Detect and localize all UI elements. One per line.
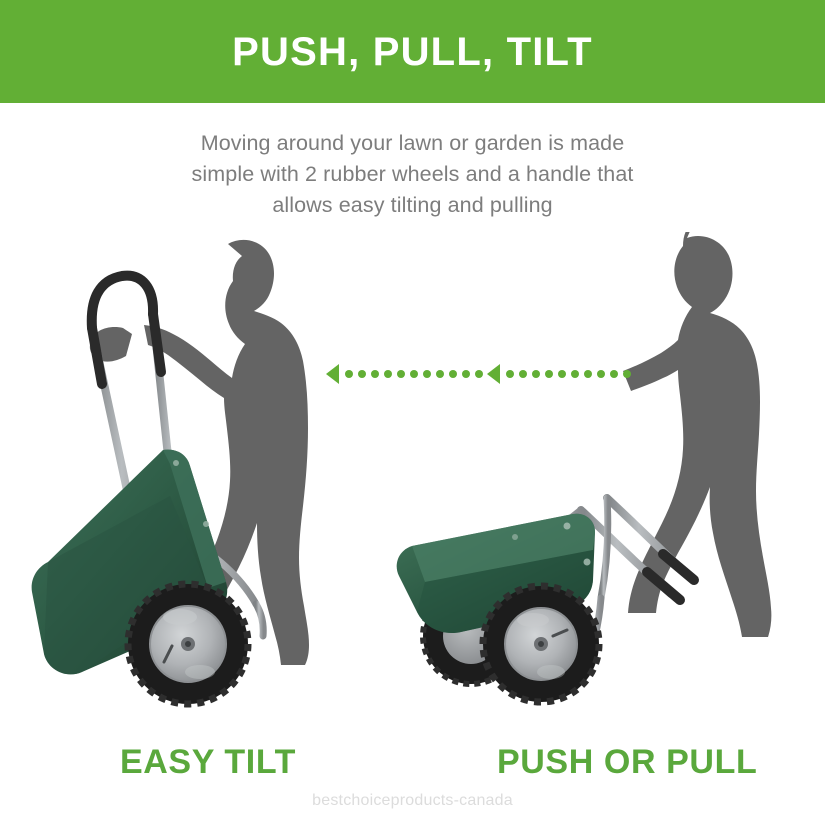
watermark: bestchoiceproducts-canada [0,792,825,810]
illustration-stage [0,232,825,724]
dotted-left-arrow-icon-2 [487,364,631,384]
cart-wheel-front [483,586,599,702]
dotted-left-arrow-icon-1 [326,364,483,384]
header-banner: PUSH, PULL, TILT [0,0,825,103]
subtitle-line-1: Moving around your lawn or garden is mad… [113,128,713,159]
easy-tilt-illustration [30,232,375,724]
page-title: PUSH, PULL, TILT [222,32,603,72]
subtitle-block: Moving around your lawn or garden is mad… [113,128,713,221]
caption-easy-tilt: EASY TILT [120,740,296,784]
direction-arrows [325,362,635,386]
subtitle-line-2: simple with 2 rubber wheels and a handle… [113,159,713,190]
infographic-page: PUSH, PULL, TILT Moving around your lawn… [0,0,825,825]
captions-row: EASY TILT PUSH OR PULL [0,740,825,790]
cart-wheel [128,584,248,704]
push-or-pull-illustration [395,232,795,724]
subtitle-line-3: allows easy tilting and pulling [113,190,713,221]
caption-push-or-pull: PUSH OR PULL [497,740,757,784]
